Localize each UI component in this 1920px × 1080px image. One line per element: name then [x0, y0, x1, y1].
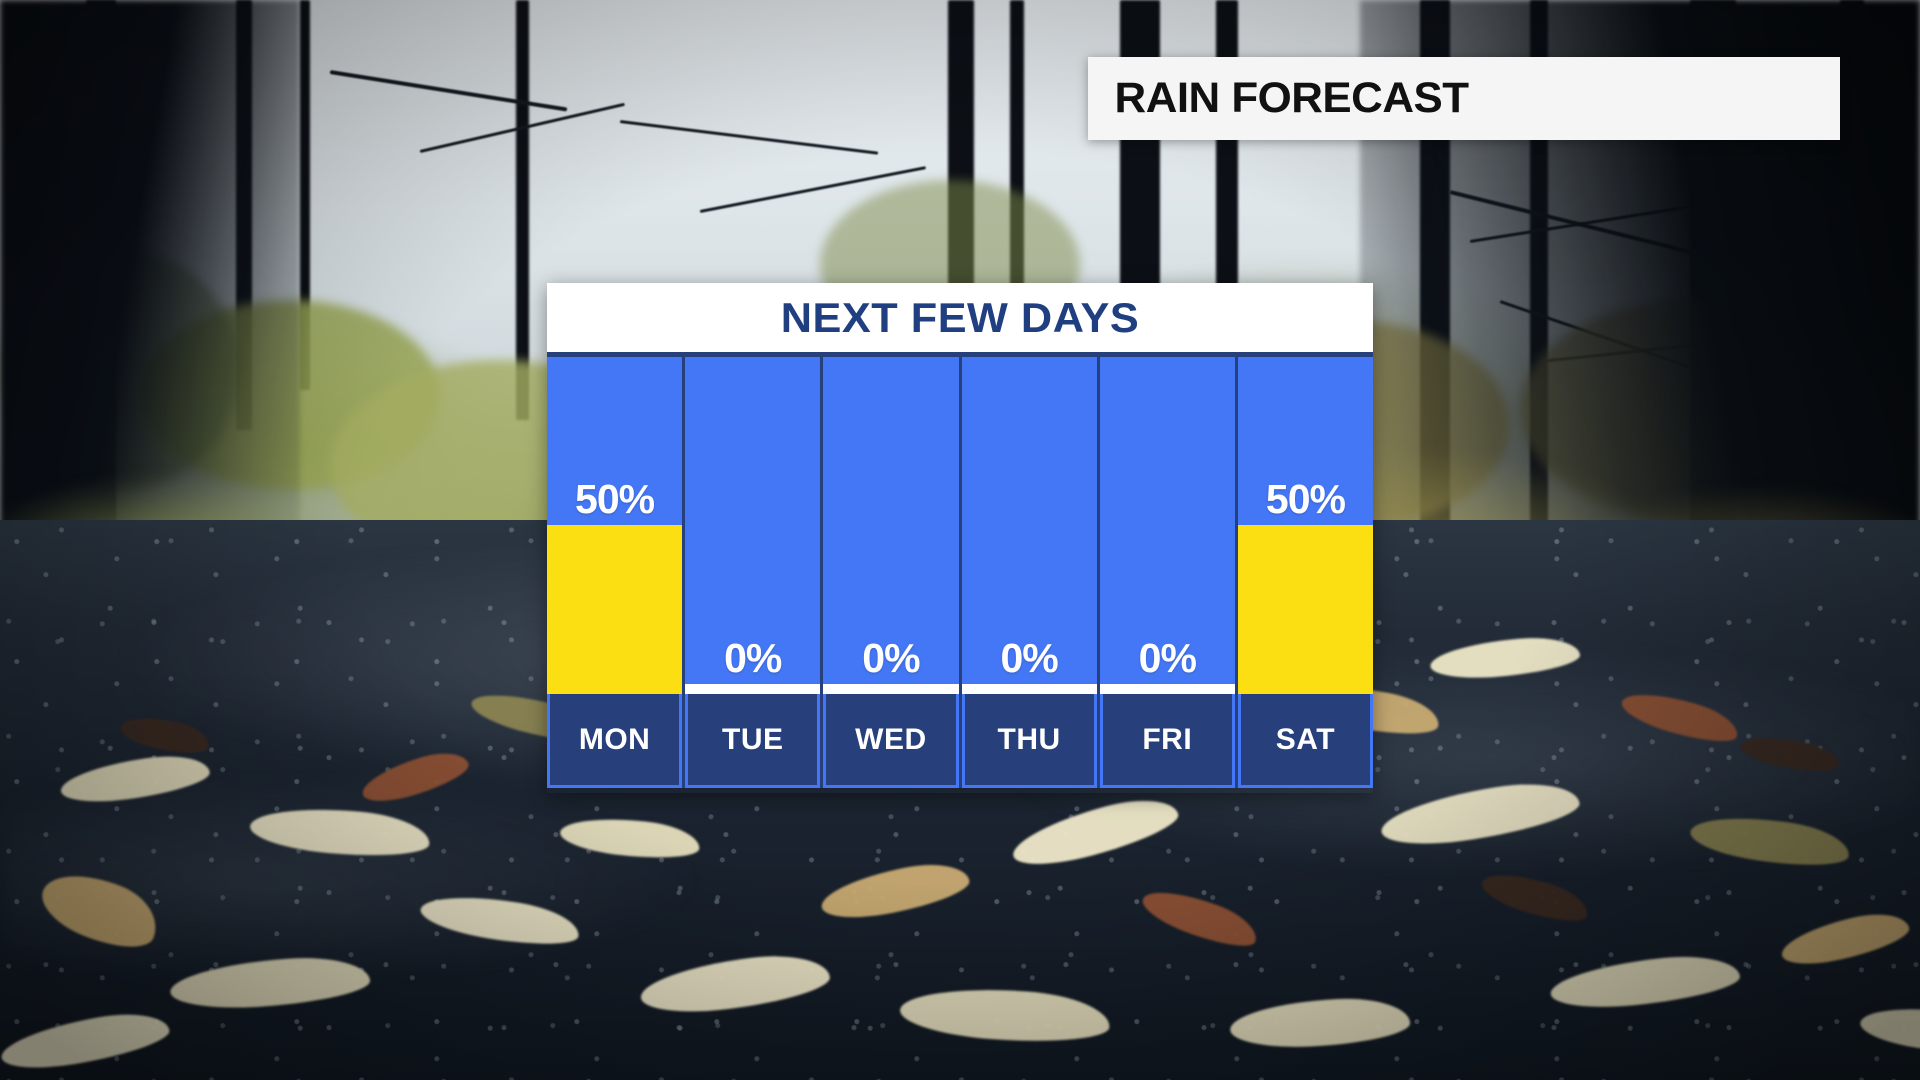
rain-percent-wed: 0% [823, 635, 958, 682]
day-column-mon[interactable]: 50% MON [547, 357, 685, 788]
day-label-box-fri: FRI [1100, 694, 1235, 788]
rain-percent-fri: 0% [1100, 635, 1235, 682]
rain-bar-fill-mon [547, 525, 682, 694]
day-column-fri[interactable]: 0% FRI [1100, 357, 1238, 788]
rain-percent-tue: 0% [685, 635, 820, 682]
forecast-bars-area: 50% MON 0% TUE 0% WED 0% THU [547, 357, 1373, 788]
rain-percent-sat: 50% [1238, 476, 1373, 523]
forecast-panel-title: NEXT FEW DAYS [781, 294, 1139, 342]
rain-bar-fill-fri [1100, 684, 1235, 694]
day-label-fri: FRI [1142, 723, 1192, 757]
day-column-wed[interactable]: 0% WED [823, 357, 961, 788]
day-label-mon: MON [579, 723, 651, 757]
rain-bar-fill-wed [823, 684, 958, 694]
day-label-box-wed: WED [823, 694, 958, 788]
rain-forecast-title-text: RAIN FORECAST [1115, 74, 1469, 123]
rain-bar-fill-sat [1238, 525, 1373, 694]
day-label-box-tue: TUE [685, 694, 820, 788]
rain-percent-thu: 0% [962, 635, 1097, 682]
day-label-sat: SAT [1276, 723, 1335, 757]
day-label-wed: WED [855, 723, 927, 757]
day-label-box-sat: SAT [1238, 694, 1373, 788]
rain-bar-fill-tue [685, 684, 820, 694]
day-label-tue: TUE [722, 723, 784, 757]
day-column-thu[interactable]: 0% THU [962, 357, 1100, 788]
day-label-box-thu: THU [962, 694, 1097, 788]
day-label-thu: THU [998, 723, 1061, 757]
day-column-tue[interactable]: 0% TUE [685, 357, 823, 788]
rain-percent-mon: 50% [547, 476, 682, 523]
rain-bar-fill-thu [962, 684, 1097, 694]
day-column-sat[interactable]: 50% SAT [1238, 357, 1373, 788]
rain-forecast-title-banner: RAIN FORECAST [1088, 57, 1840, 140]
day-label-box-mon: MON [547, 694, 682, 788]
forecast-panel: NEXT FEW DAYS 50% MON 0% TUE 0% WED [547, 283, 1373, 793]
forecast-panel-header: NEXT FEW DAYS [547, 283, 1373, 357]
